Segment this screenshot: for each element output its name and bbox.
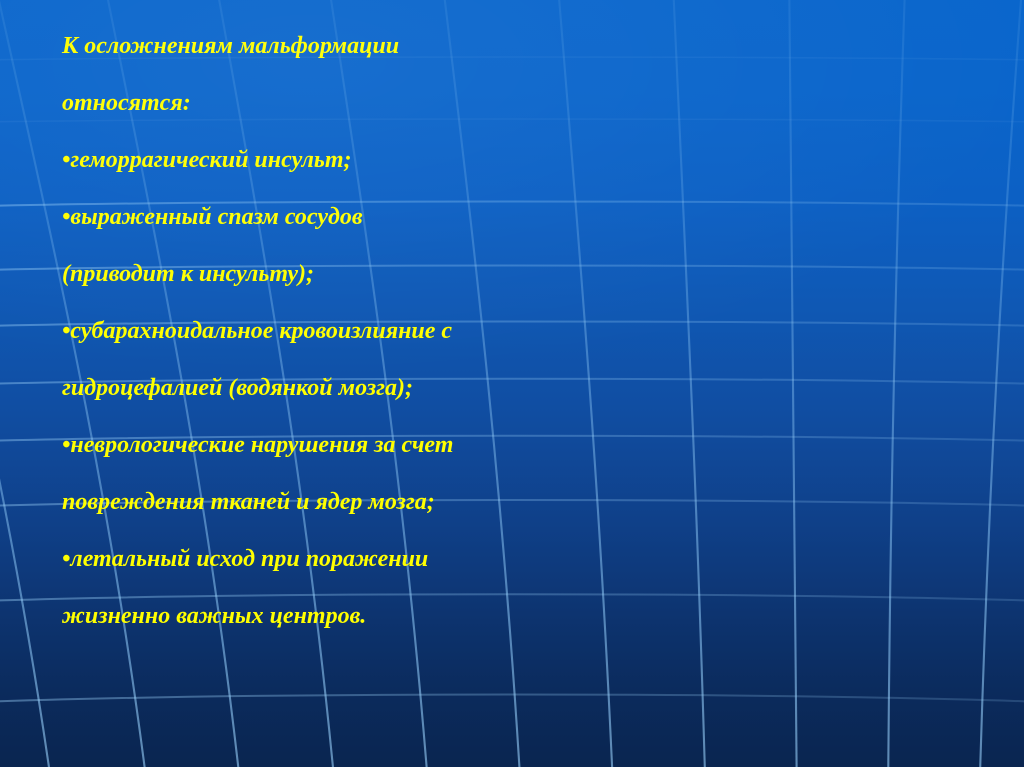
bullet-line-4: •неврологические нарушения за счет — [62, 417, 1012, 474]
slide-canvas: К осложнениям мальформации относятся: •г… — [0, 0, 1024, 767]
bullet-line-1: •геморрагический инсульт; — [62, 132, 1012, 189]
bullet-line-5: •летальный исход при поражении — [62, 531, 1012, 588]
bullet-line-3: •субарахноидальное кровоизлияние с — [62, 303, 1012, 360]
slide-text-layer: К осложнениям мальформации относятся: •г… — [0, 0, 1024, 767]
bullet-line-5-cont: жизненно важных центров. — [62, 588, 1012, 645]
bullet-line-2-cont: (приводит к инсульту); — [62, 246, 1012, 303]
bullet-line-3-cont: гидроцефалией (водянкой мозга); — [62, 360, 1012, 417]
heading-line-2: относятся: — [62, 75, 1012, 132]
heading-line-1: К осложнениям мальформации — [62, 18, 1012, 75]
slide-body-text: К осложнениям мальформации относятся: •г… — [62, 18, 1012, 645]
bullet-line-2: •выраженный спазм сосудов — [62, 189, 1012, 246]
bullet-line-4-cont: повреждения тканей и ядер мозга; — [62, 474, 1012, 531]
